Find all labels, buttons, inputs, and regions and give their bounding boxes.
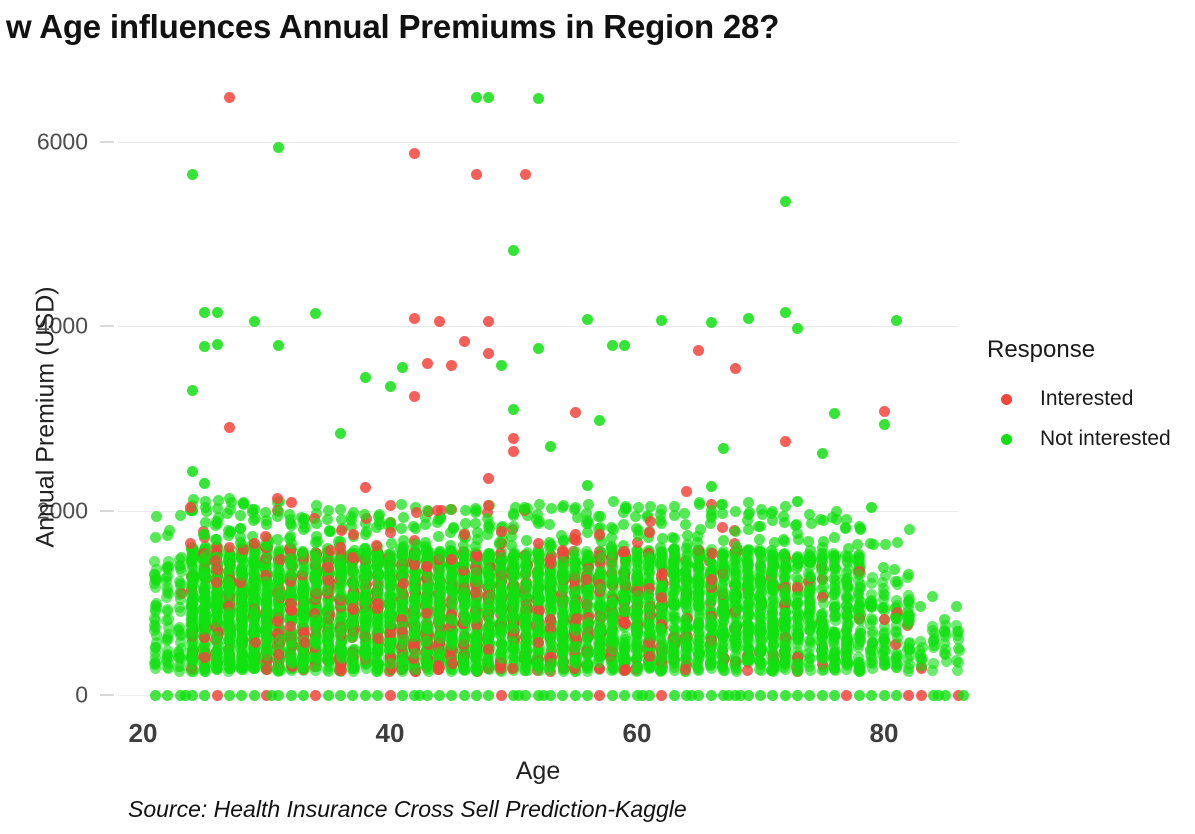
data-point [336,648,347,659]
data-point [470,575,481,586]
data-point [657,655,668,666]
data-point [680,584,691,595]
data-point [507,554,518,565]
data-point [248,587,259,598]
data-point [544,652,555,663]
data-point [311,570,322,581]
data-point [496,638,507,649]
data-point [286,591,297,602]
data-point [470,518,481,529]
data-point [668,650,679,661]
data-point [447,644,458,655]
data-point [410,666,421,677]
data-point [237,627,248,638]
data-point [397,596,408,607]
data-point [408,552,419,563]
data-point [162,645,173,656]
data-point [583,591,594,602]
data-point [519,613,530,624]
data-point [212,600,223,611]
data-point [497,639,508,650]
data-point [583,561,594,572]
data-point [298,665,309,676]
data-point [286,597,297,608]
data-point [582,609,593,620]
data-point [409,567,420,578]
data-point [434,646,445,657]
data-point [371,611,382,622]
data-point [260,624,271,635]
data-point [545,579,556,590]
data-point [236,594,247,605]
data-point [409,618,420,629]
data-point [224,583,235,594]
data-point [509,635,520,646]
data-point [298,605,309,616]
data-point [435,585,446,596]
data-point [544,537,555,548]
data-point [396,621,407,632]
data-point [273,604,284,615]
data-point [397,653,408,664]
data-point [310,637,321,648]
data-point [199,585,210,596]
data-point [522,503,533,514]
data-point [656,610,667,621]
data-point [372,570,383,581]
data-point [200,592,211,603]
data-point [398,620,409,631]
data-point [188,625,199,636]
data-point [484,560,495,571]
data-point [272,582,283,593]
data-point [631,661,642,672]
data-point [556,621,567,632]
data-point [458,589,469,600]
data-point [287,627,298,638]
data-point [556,589,567,600]
data-point [458,585,469,596]
data-point [323,600,334,611]
data-point [434,579,445,590]
data-point [335,593,346,604]
data-point [200,541,211,552]
data-point [470,596,481,607]
data-point [495,626,506,637]
data-point [346,556,357,567]
data-point [434,614,445,625]
data-point [606,604,617,615]
data-point [298,614,309,625]
data-point [199,663,210,674]
data-point [348,586,359,597]
data-point [361,568,372,579]
data-point [397,639,408,650]
data-point [372,541,383,552]
data-point [310,665,321,676]
data-point [187,606,198,617]
data-point [397,560,408,571]
data-point [323,627,334,638]
data-point [495,591,506,602]
data-point [632,621,643,632]
data-point [583,555,594,566]
data-point [200,666,211,677]
data-point [495,564,506,575]
data-point [509,570,520,581]
data-point [311,644,322,655]
data-point [297,549,308,560]
data-point [495,663,506,674]
data-point [335,596,346,607]
data-point [631,654,642,665]
data-point [459,651,470,662]
data-point [335,665,346,676]
data-point [371,561,382,572]
data-point [570,641,581,652]
data-point [495,592,506,603]
data-point [336,563,347,574]
data-point [322,588,333,599]
data-point [224,591,235,602]
data-point [534,646,545,657]
data-point [398,651,409,662]
data-point [594,617,605,628]
data-point [322,630,333,641]
data-point [656,583,667,594]
data-point [272,534,283,545]
data-point [211,549,222,560]
data-point [470,631,481,642]
data-point [410,646,421,657]
data-point [237,638,248,649]
data-point [334,559,345,570]
data-point [545,601,556,612]
data-point [681,650,692,661]
data-point [531,656,542,667]
data-point [435,557,446,568]
data-point [558,559,569,570]
data-point [199,552,210,563]
data-point [619,657,630,668]
data-point [260,611,271,622]
data-point [273,608,284,619]
data-point [161,562,172,573]
data-point [187,563,198,574]
data-point [433,631,444,642]
data-point [644,604,655,615]
data-point [482,636,493,647]
data-point [224,663,235,674]
data-point [360,654,371,665]
data-point [385,629,396,640]
data-point [496,589,507,600]
data-point [236,636,247,647]
data-point [495,660,506,671]
data-point [619,597,630,608]
data-point [187,620,198,631]
data-point [336,525,347,536]
data-point [335,622,346,633]
data-point [225,655,236,666]
data-point [261,612,272,623]
data-point [187,594,198,605]
data-point [272,665,283,676]
data-point [225,605,236,616]
data-point [287,633,298,644]
data-point [546,595,557,606]
data-point [594,551,605,562]
data-point [445,545,456,556]
data-point [546,578,557,589]
data-point [372,551,383,562]
data-point [595,635,606,646]
data-point [620,556,631,567]
data-point [187,622,198,633]
data-point [632,545,643,556]
data-point [186,654,197,665]
data-point [212,617,223,628]
data-point [312,614,323,625]
data-point [410,609,421,620]
data-point [286,632,297,643]
data-point [458,575,469,586]
data-point [435,647,446,658]
data-point [384,561,395,572]
data-point [519,550,530,561]
data-point [569,573,580,584]
data-point [173,626,184,637]
data-point [534,594,545,605]
data-point [644,552,655,563]
data-point [448,550,459,561]
data-point [632,662,643,673]
data-point [472,619,483,630]
data-point [447,554,458,565]
data-point [668,561,679,572]
data-point [595,638,606,649]
data-point [398,558,409,569]
data-point [594,550,605,561]
data-point [670,572,681,583]
data-point [631,626,642,637]
data-point [459,599,470,610]
data-point [631,629,642,640]
data-point [346,594,357,605]
data-point [261,650,272,661]
data-point [261,657,272,668]
data-point [223,555,234,566]
data-point [608,587,619,598]
data-point [359,644,370,655]
data-point [570,655,581,666]
data-point [546,587,557,598]
data-point [199,583,210,594]
data-point [618,540,629,551]
data-point [619,604,630,615]
data-point [385,527,396,538]
data-point [199,652,210,663]
data-point [223,666,234,677]
data-point [347,621,358,632]
data-point [385,517,396,528]
data-point [359,605,370,616]
data-point [606,590,617,601]
data-point [260,632,271,643]
data-point [396,573,407,584]
data-point [210,555,221,566]
data-point [544,581,555,592]
data-point [396,633,407,644]
data-point [225,619,236,630]
data-point [285,557,296,568]
data-point [385,609,396,620]
data-point [496,606,507,617]
data-point [299,623,310,634]
data-point [150,615,161,626]
data-point [174,554,185,565]
data-point [396,566,407,577]
data-point [483,609,494,620]
data-point [224,652,235,663]
data-point [471,584,482,595]
data-point [606,552,617,563]
data-point [248,652,259,663]
data-point [496,604,507,615]
data-point [668,607,679,618]
data-point [582,660,593,671]
data-point [188,575,199,586]
data-point [644,622,655,633]
data-point [534,630,545,641]
data-point [447,652,458,663]
data-point [199,633,210,644]
data-point [261,598,272,609]
data-point [262,615,273,626]
data-point [570,625,581,636]
data-point [323,641,334,652]
data-point [569,657,580,668]
data-point [385,640,396,651]
data-point [608,649,619,660]
data-point [223,576,234,587]
data-point [448,523,459,534]
data-point [645,628,656,639]
data-point [509,632,520,643]
data-point [249,573,260,584]
data-point [347,576,358,587]
data-point [335,611,346,622]
data-point [409,622,420,633]
data-point [644,663,655,674]
data-point [310,588,321,599]
data-point [210,552,221,563]
data-point [384,556,395,567]
data-point [395,543,406,554]
data-point [446,594,457,605]
data-point [249,604,260,615]
data-point [372,605,383,616]
data-point [495,609,506,620]
data-point [632,629,643,640]
data-point [570,599,581,610]
data-point [496,594,507,605]
data-point [335,598,346,609]
data-point [275,587,286,598]
data-point [248,634,259,645]
data-point [396,560,407,571]
data-point [237,569,248,580]
data-point [655,666,666,677]
data-point [359,631,370,642]
data-point [336,619,347,630]
data-point [680,593,691,604]
data-point [557,548,568,559]
data-point [680,582,691,593]
data-point [186,619,197,630]
data-point [211,577,222,588]
data-point [360,617,371,628]
data-point [334,624,345,635]
data-point [188,593,199,604]
data-point [360,563,371,574]
data-point [421,625,432,636]
data-point [484,597,495,608]
data-point [187,626,198,637]
data-point [507,636,518,647]
data-point [532,611,543,622]
data-point [373,659,384,670]
data-point [224,550,235,561]
data-point [583,617,594,628]
data-point [348,566,359,577]
data-point [224,548,235,559]
data-point [309,573,320,584]
data-point [459,596,470,607]
data-point [606,545,617,556]
data-point [593,638,604,649]
data-point [534,593,545,604]
data-point [606,619,617,630]
data-point [507,524,518,535]
data-point [396,612,407,623]
data-point [472,623,483,634]
data-point [656,626,667,637]
data-point [298,649,309,660]
data-point [188,645,199,656]
data-point [359,576,370,587]
data-point [496,574,507,585]
data-point [657,582,668,593]
data-point [422,618,433,629]
data-point [361,579,372,590]
data-point [631,620,642,631]
data-point [162,650,173,661]
data-point [572,512,583,523]
data-point [532,637,543,648]
data-point [397,602,408,613]
data-point [484,607,495,618]
data-point [680,556,691,567]
data-point [373,568,384,579]
data-point [349,574,360,585]
data-point [298,561,309,572]
data-point [348,646,359,657]
data-point [433,563,444,574]
data-point [237,610,248,621]
data-point [569,559,580,570]
data-point [619,647,630,658]
